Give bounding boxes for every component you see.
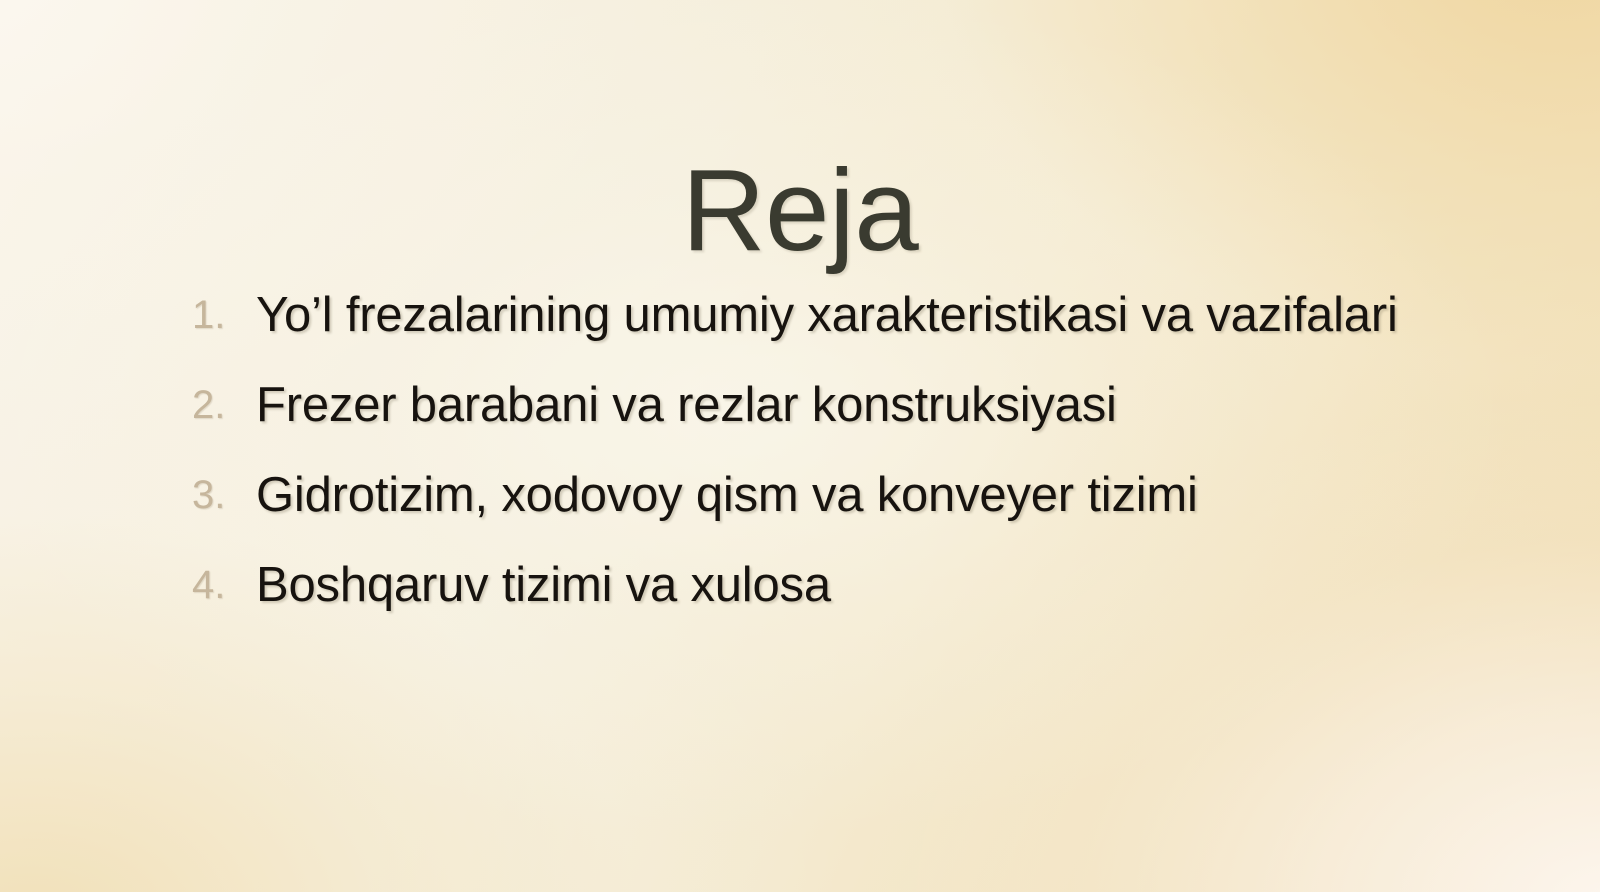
agenda-item-number: 1. xyxy=(188,284,256,346)
agenda-item: 3. Gidrotizim, xodovoy qism va konveyer … xyxy=(188,464,1518,526)
agenda-item: 4. Boshqaruv tizimi va xulosa xyxy=(188,554,1518,616)
agenda-item-number: 3. xyxy=(188,464,256,526)
presentation-slide: Reja 1. Yo’l frezalarining umumiy xarakt… xyxy=(0,0,1600,892)
agenda-list: 1. Yo’l frezalarining umumiy xarakterist… xyxy=(148,284,1518,616)
agenda-item: 1. Yo’l frezalarining umumiy xarakterist… xyxy=(188,284,1518,346)
agenda-item-text: Gidrotizim, xodovoy qism va konveyer tiz… xyxy=(256,464,1518,526)
agenda-item: 2. Frezer barabani va rezlar konstruksiy… xyxy=(188,374,1518,436)
slide-title: Reja xyxy=(0,150,1600,272)
agenda-item-number: 4. xyxy=(188,554,256,616)
agenda-item-text: Boshqaruv tizimi va xulosa xyxy=(256,554,1518,616)
agenda-item-text: Frezer barabani va rezlar konstruksiyasi xyxy=(256,374,1518,436)
slide-content: Reja 1. Yo’l frezalarining umumiy xarakt… xyxy=(0,0,1600,892)
agenda-item-number: 2. xyxy=(188,374,256,436)
agenda-item-text: Yo’l frezalarining umumiy xarakteristika… xyxy=(256,284,1436,346)
